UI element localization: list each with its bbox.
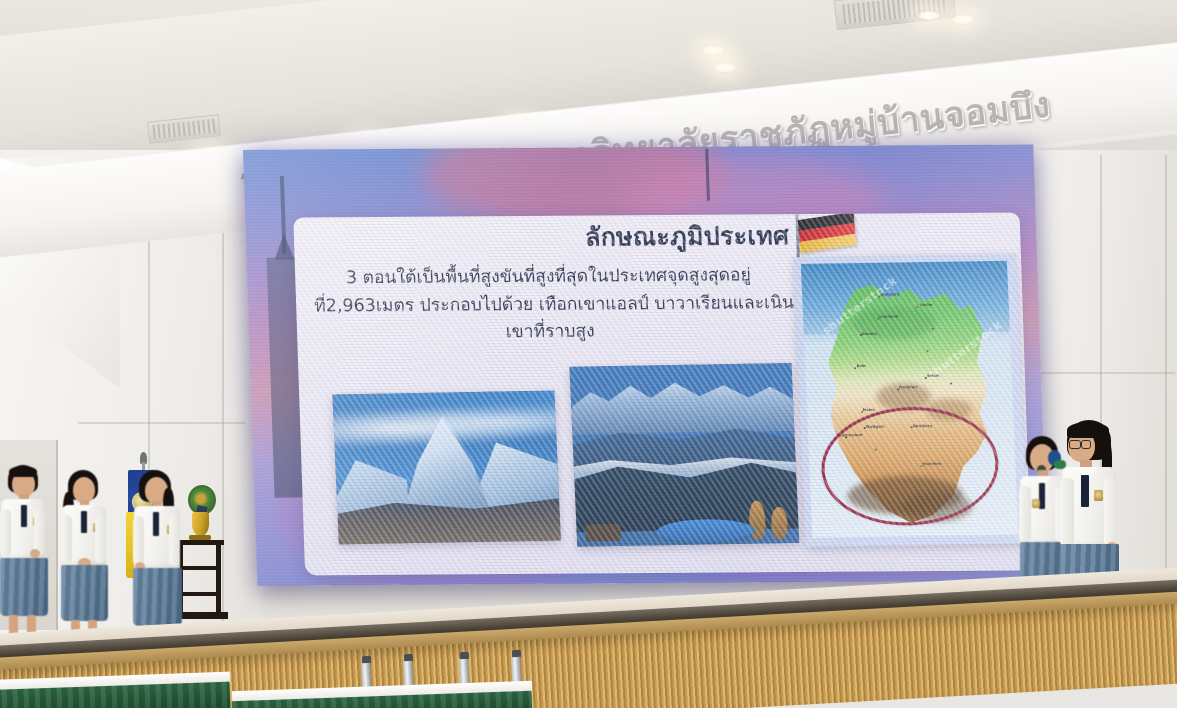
castle-spire bbox=[274, 234, 295, 260]
trophy-stand bbox=[216, 545, 221, 617]
map-city-label: Frankfurt bbox=[899, 385, 918, 389]
necktie bbox=[81, 511, 87, 533]
microphone-stand-head bbox=[460, 652, 469, 659]
map-city-label: Hannover bbox=[879, 314, 899, 318]
wall-seam bbox=[1030, 372, 1175, 374]
map-city-dot bbox=[950, 382, 952, 384]
map-city-dot bbox=[926, 350, 928, 352]
microphone-stand-head bbox=[362, 656, 371, 663]
arm bbox=[0, 509, 11, 557]
necktie bbox=[21, 505, 27, 527]
arm bbox=[169, 516, 180, 566]
germany-relief-map: shutterstock shutterstock bbox=[801, 261, 1018, 538]
uniform-badge bbox=[1094, 490, 1103, 501]
slide-body-line: เขาที่ราบสูง bbox=[315, 317, 786, 348]
slide-body-line: ที่2,963เมตร ประกอบไปด้วย เทือกเขาแอลป์ … bbox=[314, 290, 785, 321]
arm bbox=[61, 515, 72, 563]
presentation-photo-scene: โรงเรียนสาธิตแห่งมหาวิทยาลัยราชภัฏหมู่บ้… bbox=[0, 0, 1177, 708]
ceiling-downlight bbox=[700, 45, 726, 56]
wall-seam bbox=[78, 422, 246, 424]
wall-seam bbox=[222, 196, 224, 626]
uniform-skirt bbox=[133, 568, 182, 626]
eyeglasses-icon bbox=[1081, 440, 1091, 449]
hair-fringe bbox=[1067, 422, 1109, 438]
map-city-label: Hamburg bbox=[880, 293, 899, 297]
ceiling-downlight bbox=[950, 14, 976, 25]
map-city-label: Bremen bbox=[861, 331, 877, 335]
ceremonial-trophy bbox=[192, 512, 209, 536]
german-flag-cloth bbox=[798, 213, 856, 253]
arm bbox=[133, 516, 144, 566]
microphone-stand-head bbox=[512, 650, 521, 657]
slide-body-text: 3 ตอนใต้เป็นพื้นที่สูงขันที่สูงที่สุดในป… bbox=[313, 262, 786, 348]
slide-body-line: 3 ตอนใต้เป็นพื้นที่สูงขันที่สูงที่สุดในป… bbox=[313, 262, 784, 293]
ceiling-downlight bbox=[916, 10, 942, 21]
map-city-dot bbox=[931, 328, 933, 330]
hand bbox=[30, 549, 40, 558]
snow-peak-photo bbox=[332, 391, 561, 545]
uniform-skirt bbox=[0, 558, 48, 616]
presentation-slide: ลักษณะภูมิประเทศ 3 ตอนใต้เป็นพื้นที่สูงข… bbox=[293, 213, 1031, 576]
ceiling-downlight bbox=[712, 62, 738, 73]
necktie bbox=[1081, 475, 1089, 507]
eyeglasses-icon bbox=[1069, 440, 1081, 449]
map-city-label: Berlin bbox=[920, 303, 932, 307]
german-flag-icon bbox=[795, 214, 859, 260]
germany-relief-map-photo: shutterstock shutterstock bbox=[794, 254, 1028, 547]
map-city-label: Koln bbox=[857, 364, 866, 368]
trophy-stand bbox=[178, 592, 221, 596]
led-screen-wrapper: ลักษณะภูมิประเทศ 3 ตอนใต้เป็นพื้นที่สูงข… bbox=[243, 144, 1048, 597]
map-city-label: Mainz bbox=[863, 408, 875, 412]
uniform-skirt bbox=[61, 565, 108, 621]
map-city-label: Erfurt bbox=[927, 374, 939, 378]
uniform-badge bbox=[1032, 499, 1040, 508]
trophy-stand bbox=[178, 566, 221, 570]
arm bbox=[1104, 478, 1118, 546]
necktie bbox=[153, 512, 159, 536]
hair-fringe bbox=[9, 466, 37, 477]
microphone-stand-head bbox=[404, 654, 413, 661]
led-screen: ลักษณะภูมิประเทศ 3 ตอนใต้เป็นพื้นที่สูงข… bbox=[243, 144, 1048, 585]
alpine-valley-photo bbox=[569, 363, 799, 547]
arm bbox=[95, 515, 106, 563]
arm bbox=[1019, 486, 1031, 542]
arm bbox=[1060, 478, 1074, 546]
